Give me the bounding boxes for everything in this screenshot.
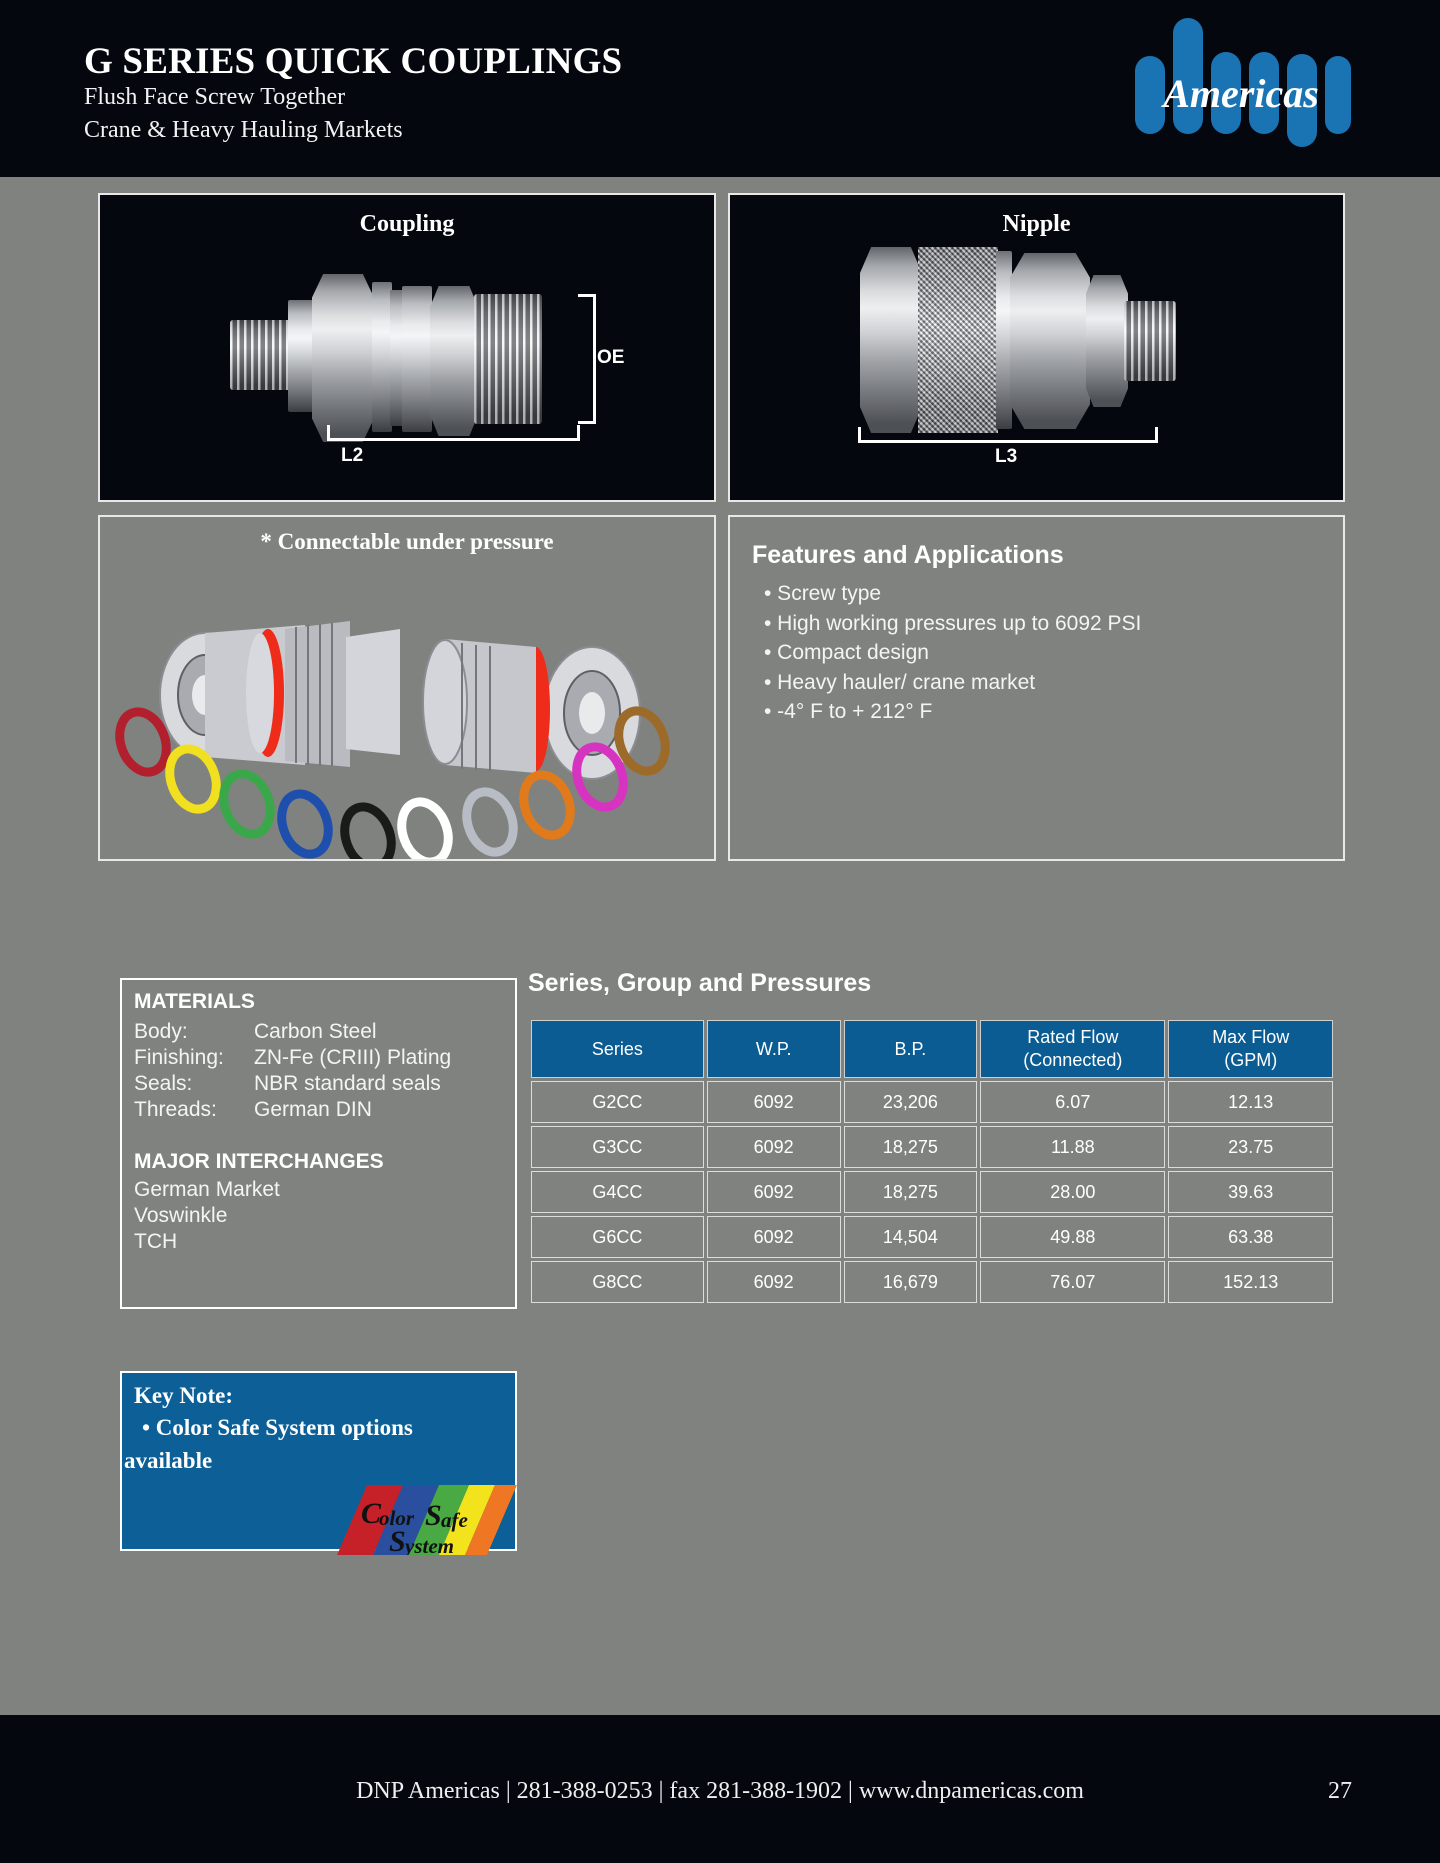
feature-item: • High working pressures up to 6092 PSI [764,609,1141,639]
materials-label-threads: Threads: [134,1098,217,1122]
page-number: 27 [1328,1778,1352,1805]
major-interchanges-heading: MAJOR INTERCHANGES [134,1150,384,1174]
cell-max-flow: 12.13 [1168,1081,1333,1123]
table-row: G3CC 6092 18,275 11.88 23.75 [531,1126,1333,1168]
nipple-panel: Nipple L3 [728,193,1345,502]
color-safe-system-logo: C olor S afe S ystem [337,1485,517,1555]
cell-rated-flow: 6.07 [980,1081,1165,1123]
coupling-render-left [160,621,400,767]
cell-wp: 6092 [707,1216,841,1258]
cell-rated-flow: 49.88 [980,1216,1165,1258]
column-header-series: Series [531,1020,704,1078]
features-title: Features and Applications [752,541,1064,570]
key-note-line-1: • Color Safe System options [142,1415,413,1441]
cell-rated-flow: 76.07 [980,1261,1165,1303]
feature-item: • -4° F to + 212° F [764,697,1141,727]
cell-bp: 18,275 [844,1171,978,1213]
cell-rated-flow: 11.88 [980,1126,1165,1168]
cell-bp: 16,679 [844,1261,978,1303]
materials-heading: MATERIALS [134,990,255,1014]
column-header-bp: B.P. [844,1020,978,1078]
materials-value-seals: NBR standard seals [254,1072,441,1096]
cell-series: G6CC [531,1216,704,1258]
column-header-rated-flow: Rated Flow (Connected) [980,1020,1165,1078]
feature-item: • Screw type [764,579,1141,609]
column-header-max-flow: Max Flow (GPM) [1168,1020,1333,1078]
cell-max-flow: 63.38 [1168,1216,1333,1258]
table-row: G4CC 6092 18,275 28.00 39.63 [531,1171,1333,1213]
cell-rated-flow: 28.00 [980,1171,1165,1213]
nipple-product-photo [860,243,1180,443]
table-row: G8CC 6092 16,679 76.07 152.13 [531,1261,1333,1303]
cell-series: G4CC [531,1171,704,1213]
l3-dimension-label: L3 [995,446,1017,468]
spec-table: Series W.P. B.P. Rated Flow (Connected) … [528,1017,1336,1306]
table-row: G6CC 6092 14,504 49.88 63.38 [531,1216,1333,1258]
table-header-row: Series W.P. B.P. Rated Flow (Connected) … [531,1020,1333,1078]
page-header: G SERIES QUICK COUPLINGS Flush Face Scre… [0,0,1440,177]
nipple-heading: Nipple [730,211,1343,238]
features-list: • Screw type • High working pressures up… [764,579,1141,727]
css-logo-word-system-s: S [389,1525,406,1555]
cell-wp: 6092 [707,1126,841,1168]
cell-max-flow: 39.63 [1168,1171,1333,1213]
cell-bp: 14,504 [844,1216,978,1258]
coupling-panel: Coupling OE L2 [98,193,716,502]
dnp-americas-logo: Americas [1133,12,1353,147]
cell-bp: 18,275 [844,1126,978,1168]
cell-series: G8CC [531,1261,704,1303]
feature-item: • Compact design [764,638,1141,668]
cell-max-flow: 23.75 [1168,1126,1333,1168]
materials-label-seals: Seals: [134,1072,192,1096]
key-note-line-2: available [124,1448,212,1474]
css-logo-word-safe-s: S [425,1499,442,1532]
logo-wordmark: Americas [1160,71,1319,116]
coupling-render-right [423,639,640,779]
cell-wp: 6092 [707,1081,841,1123]
page-title: G SERIES QUICK COUPLINGS [84,40,622,83]
color-rings-illustration [100,517,714,859]
spec-table-title: Series, Group and Pressures [528,969,871,998]
cell-bp: 23,206 [844,1081,978,1123]
materials-value-threads: German DIN [254,1098,372,1122]
page-subtitle-1: Flush Face Screw Together [84,84,345,111]
footer-contact-text: DNP Americas | 281-388-0253 | fax 281-38… [0,1778,1440,1805]
cell-series: G2CC [531,1081,704,1123]
materials-label-finishing: Finishing: [134,1046,224,1070]
l2-dimension-label: L2 [341,445,363,467]
page-footer: DNP Americas | 281-388-0253 | fax 281-38… [0,1715,1440,1863]
connectable-under-pressure-panel: * Connectable under pressure [98,515,716,861]
coupling-heading: Coupling [100,211,714,238]
interchange-item: Voswinkle [134,1204,227,1228]
feature-item: • Heavy hauler/ crane market [764,668,1141,698]
interchange-item: TCH [134,1230,177,1254]
cell-wp: 6092 [707,1261,841,1303]
materials-label-body: Body: [134,1020,188,1044]
materials-box: MATERIALS Body: Carbon Steel Finishing: … [120,978,517,1309]
features-panel: Features and Applications • Screw type •… [728,515,1345,861]
column-header-wp: W.P. [707,1020,841,1078]
oe-dimension-bracket [578,294,596,424]
css-logo-word-ystem: ystem [402,1534,454,1555]
interchange-item: German Market [134,1178,280,1202]
page-subtitle-2: Crane & Heavy Hauling Markets [84,117,403,144]
materials-value-body: Carbon Steel [254,1020,377,1044]
cell-series: G3CC [531,1126,704,1168]
css-logo-word-afe: afe [441,1508,468,1532]
key-note-title: Key Note: [134,1383,233,1409]
table-row: G2CC 6092 23,206 6.07 12.13 [531,1081,1333,1123]
cell-max-flow: 152.13 [1168,1261,1333,1303]
oe-dimension-label: OE [597,347,624,369]
l3-dimension-bracket [858,427,1158,443]
key-note-box: Key Note: • Color Safe System options av… [120,1371,517,1551]
l2-dimension-bracket [327,425,580,441]
materials-value-finishing: ZN-Fe (CRIII) Plating [254,1046,451,1070]
cell-wp: 6092 [707,1171,841,1213]
